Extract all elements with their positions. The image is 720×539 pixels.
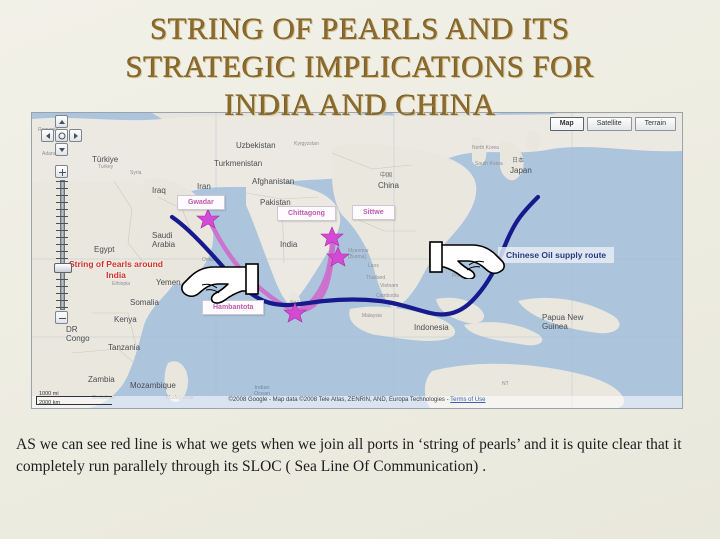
port-label-sittwe[interactable]: Sittwe xyxy=(352,205,395,220)
google-map[interactable]: TürkiyeTurkeyAdanaRomaniaIraqSyriaIranEg… xyxy=(31,112,683,409)
port-label-gwadar[interactable]: Gwadar xyxy=(177,195,225,210)
scale-miles-label: 1000 mi xyxy=(39,391,59,397)
pan-center-icon[interactable] xyxy=(55,129,68,142)
pan-right-icon[interactable] xyxy=(69,129,82,142)
chinese-oil-route-label: Chinese Oil supply route xyxy=(498,247,614,263)
map-attribution-bar: ©2008 Google - Map data ©2008 Tele Atlas… xyxy=(32,396,682,408)
pointing-hand-right-icon xyxy=(428,231,508,279)
zoom-in-icon[interactable] xyxy=(55,165,68,178)
zoom-ticks xyxy=(56,181,68,309)
pointing-hand-left-icon xyxy=(180,255,262,305)
zoom-out-icon[interactable] xyxy=(55,311,68,324)
pan-left-icon[interactable] xyxy=(41,129,54,142)
port-label-chittagong[interactable]: Chittagong xyxy=(277,206,336,221)
terms-of-use-link[interactable]: Terms of Use xyxy=(450,397,485,403)
pan-down-icon[interactable] xyxy=(55,143,68,156)
scale-km-label: 2000 km xyxy=(39,400,60,406)
slide-caption: AS we can see red line is what we gets w… xyxy=(16,434,704,478)
attribution-text: ©2008 Google - Map data ©2008 Tele Atlas… xyxy=(229,397,451,403)
map-scale-bar: 1000 mi 2000 km xyxy=(36,396,112,405)
zoom-thumb[interactable] xyxy=(54,263,72,273)
presentation-slide: STRING OF PEARLS AND ITS STRATEGIC IMPLI… xyxy=(0,0,720,539)
zoom-slider[interactable] xyxy=(40,165,84,325)
page-title: STRING OF PEARLS AND ITS STRATEGIC IMPLI… xyxy=(0,10,720,124)
